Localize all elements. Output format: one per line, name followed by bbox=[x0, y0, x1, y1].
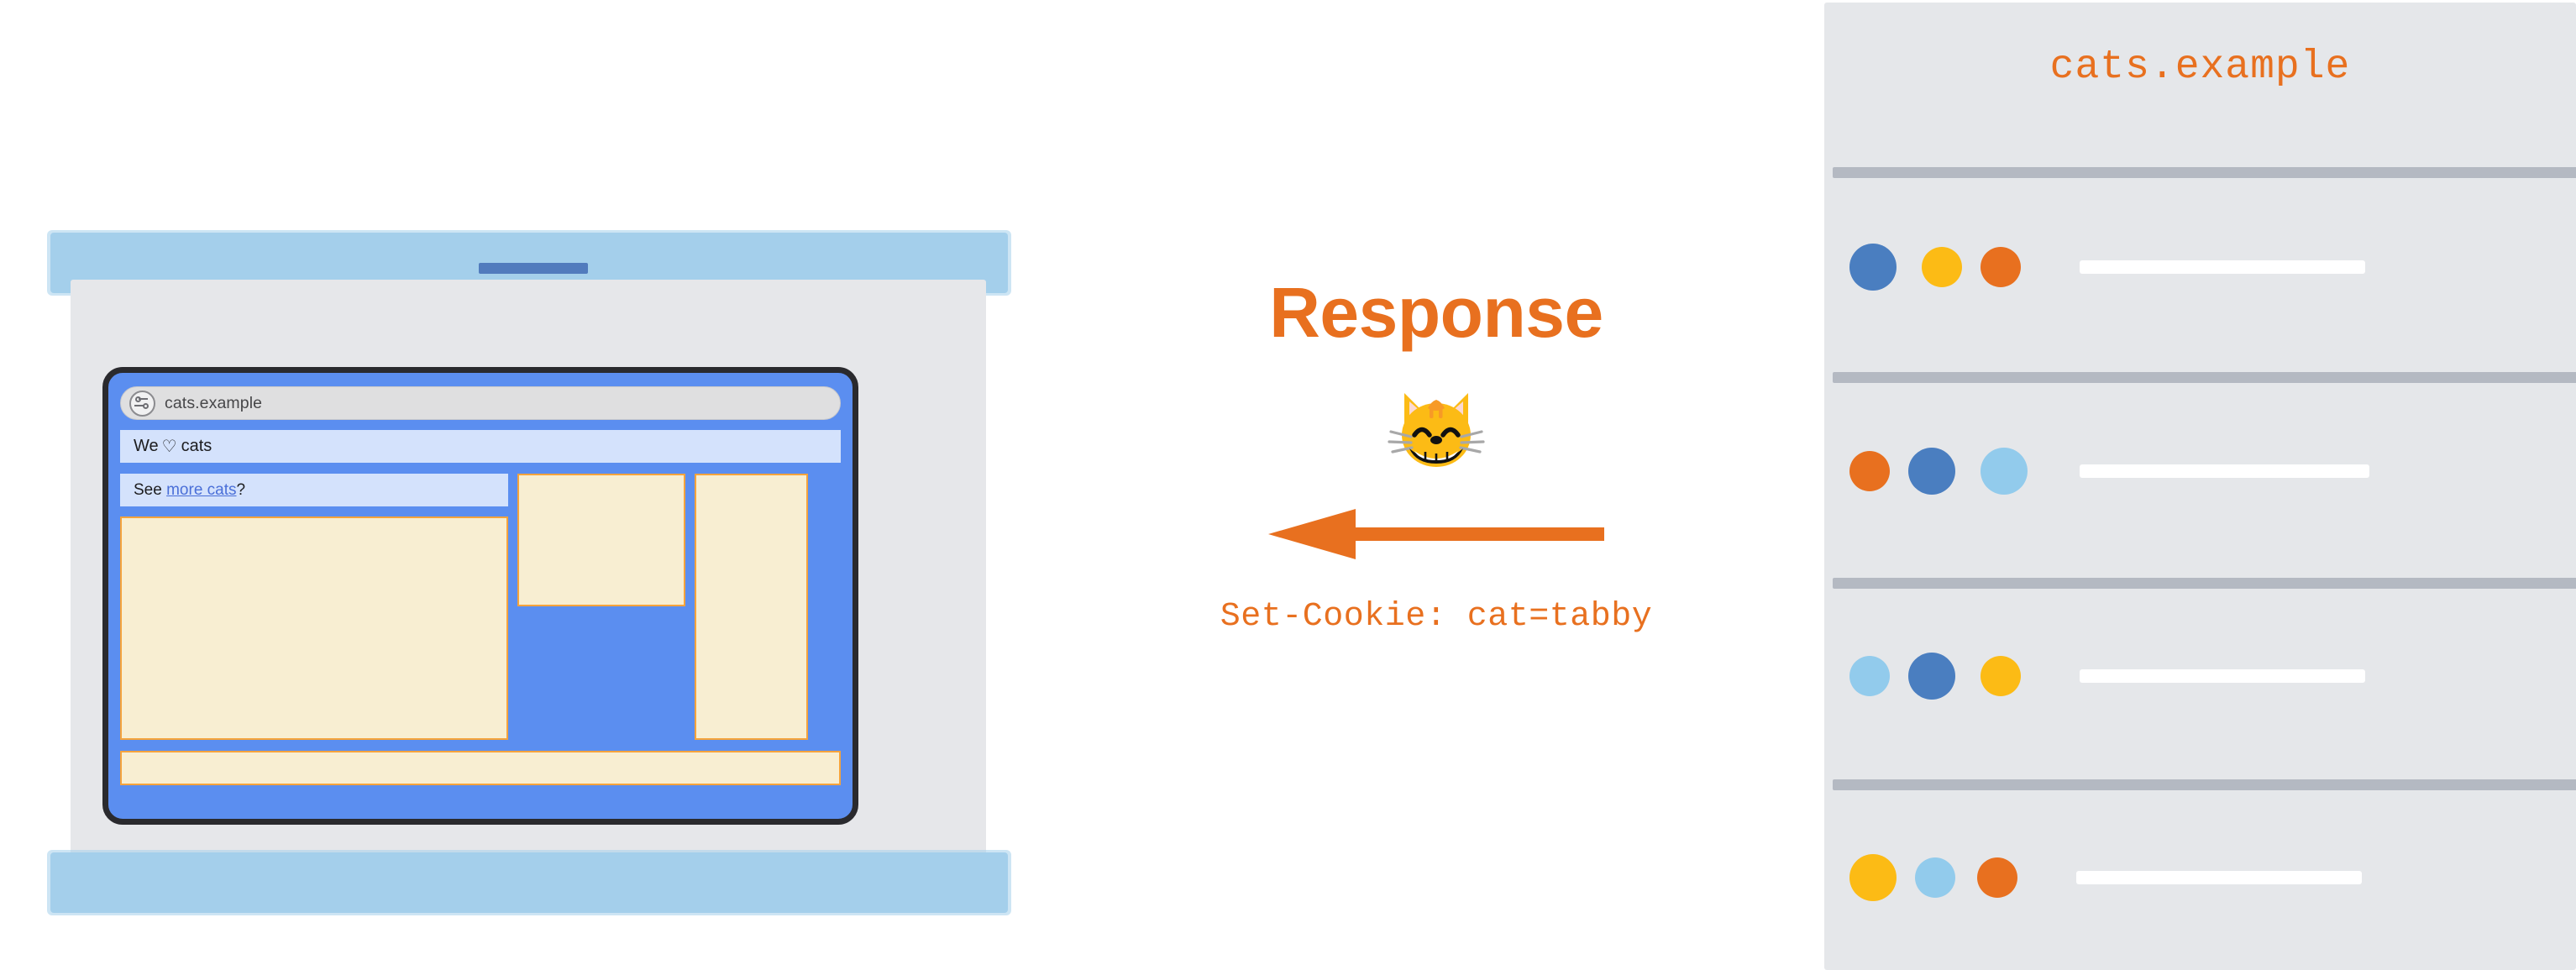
server-panel: cats.example bbox=[1824, 3, 2576, 970]
server-record-row bbox=[1824, 242, 2576, 292]
response-column: Response bbox=[1117, 277, 1755, 636]
left-arrow bbox=[1117, 507, 1755, 561]
record-dot bbox=[1977, 857, 2017, 898]
server-divider bbox=[1833, 167, 2576, 178]
laptop-camera-scribble bbox=[479, 263, 588, 274]
server-record-row bbox=[1824, 852, 2576, 903]
more-cats-link[interactable]: more cats bbox=[166, 481, 236, 500]
content-column-left: See more cats? bbox=[120, 474, 508, 740]
record-text-placeholder bbox=[2076, 871, 2362, 884]
content-column-mid bbox=[517, 474, 685, 740]
record-text-placeholder bbox=[2080, 260, 2365, 274]
page-heading-prefix: We bbox=[134, 437, 159, 456]
record-text-placeholder bbox=[2080, 464, 2369, 478]
record-dot bbox=[1922, 247, 1962, 287]
record-text-placeholder bbox=[2080, 669, 2365, 683]
record-dot bbox=[1849, 451, 1890, 491]
sidebar-right-box bbox=[695, 474, 808, 740]
record-dot bbox=[1849, 854, 1897, 901]
server-title: cats.example bbox=[1824, 45, 2576, 90]
hero-content-box bbox=[120, 516, 508, 740]
record-dot bbox=[1981, 448, 2028, 495]
heart-icon: ♡ bbox=[162, 438, 177, 455]
record-dot bbox=[1915, 857, 1955, 898]
address-bar[interactable]: cats.example bbox=[120, 386, 841, 420]
browser-window: cats.example We ♡ cats See more cats? bbox=[102, 367, 858, 825]
address-bar-url: cats.example bbox=[165, 394, 262, 413]
set-cookie-header: Set-Cookie: cat=tabby bbox=[1117, 598, 1755, 636]
footer-box bbox=[120, 751, 841, 785]
page-heading-suffix: cats bbox=[181, 437, 212, 456]
laptop-client: cats.example We ♡ cats See more cats? bbox=[50, 223, 1008, 915]
server-divider bbox=[1833, 578, 2576, 589]
server-divider bbox=[1833, 779, 2576, 790]
record-dot bbox=[1981, 656, 2021, 696]
tune-sliders-icon[interactable] bbox=[129, 391, 155, 417]
server-record-row bbox=[1824, 446, 2576, 496]
record-dot bbox=[1849, 244, 1897, 291]
more-cats-row: See more cats? bbox=[120, 474, 508, 506]
record-dot bbox=[1908, 448, 1955, 495]
response-title: Response bbox=[1117, 277, 1755, 348]
record-dot bbox=[1981, 247, 2021, 287]
link-suffix: ? bbox=[237, 481, 246, 500]
record-dot bbox=[1849, 656, 1890, 696]
page-heading: We ♡ cats bbox=[120, 430, 841, 463]
record-dot bbox=[1908, 653, 1955, 700]
grinning-cat-emoji bbox=[1117, 386, 1755, 474]
sidebar-top-box bbox=[517, 474, 685, 606]
server-divider bbox=[1833, 372, 2576, 383]
page-content-grid: See more cats? bbox=[120, 474, 841, 740]
content-column-right bbox=[695, 474, 808, 740]
link-prefix: See bbox=[134, 481, 166, 500]
server-record-row bbox=[1824, 651, 2576, 701]
laptop-lid-bottom bbox=[50, 852, 1008, 913]
